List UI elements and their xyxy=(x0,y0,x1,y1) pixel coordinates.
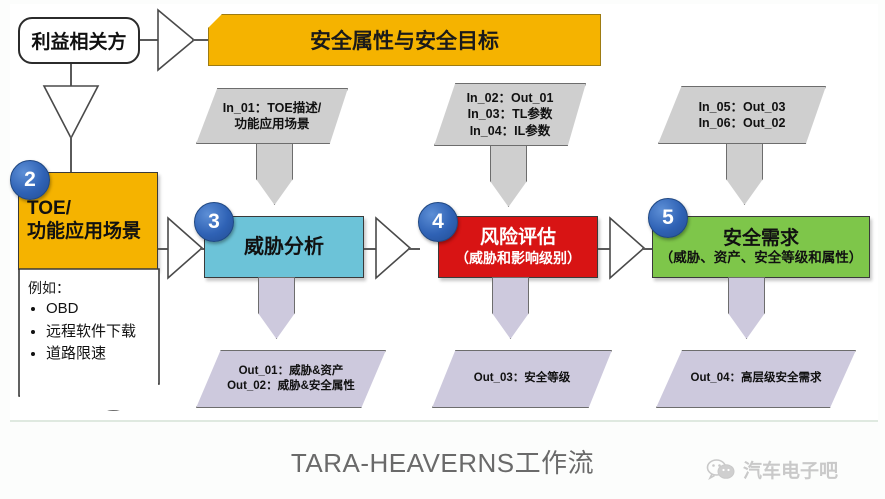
connector-line xyxy=(70,64,72,86)
note-heading: 例如： xyxy=(28,278,152,298)
connector-line xyxy=(408,248,420,250)
step-subtitle: （威胁、资产、安全等级和属性） xyxy=(660,250,863,266)
step-title: 风险评估 xyxy=(480,227,556,250)
security-goals-banner: 安全属性与安全目标 xyxy=(208,14,601,66)
input-block-2: In_02：Out_01 In_03：TL参数 In_04：IL参数 xyxy=(434,83,586,146)
watermark-text: 汽车电子吧 xyxy=(743,456,838,483)
input-line: 功能应用场景 xyxy=(234,116,309,133)
output-block-1: Out_01：威胁&资产 Out_02：威胁&安全属性 xyxy=(196,350,386,408)
arrow-connector-right-icon xyxy=(608,216,646,280)
diagram-canvas: 利益相关方 安全属性与安全目标 In_01：TOE描述/ 功能应用场景 In_0… xyxy=(0,0,885,499)
step-number: 5 xyxy=(662,206,674,230)
step-badge-4: 4 xyxy=(418,202,458,242)
input-block-1: In_01：TOE描述/ 功能应用场景 xyxy=(196,88,348,144)
output-line: Out_04：高层级安全需求 xyxy=(691,371,822,386)
connector-line xyxy=(70,136,72,172)
input-line: In_01：TOE描述/ xyxy=(223,100,321,117)
output-block-3: Out_04：高层级安全需求 xyxy=(656,350,856,408)
note-list: OBD 远程软件下载 道路限速 xyxy=(28,298,152,366)
connector-line xyxy=(192,39,210,41)
toe-examples-note: 例如： OBD 远程软件下载 道路限速 xyxy=(20,270,158,410)
step-subtitle: 功能应用场景 xyxy=(27,221,141,244)
wechat-icon xyxy=(706,458,736,482)
input-line: In_06：Out_02 xyxy=(699,115,786,132)
arrow-connector-right-icon xyxy=(156,8,196,72)
caption-text: TARA-HEAVERNS工作流 xyxy=(291,448,594,478)
step-badge-5: 5 xyxy=(648,198,688,238)
stakeholder-label: 利益相关方 xyxy=(31,27,126,54)
step-title: 安全需求 xyxy=(723,228,799,251)
output-block-2: Out_03：安全等级 xyxy=(432,350,612,408)
watermark: 汽车电子吧 xyxy=(706,456,838,483)
arrow-connector-right-icon xyxy=(374,216,412,280)
input-line: In_02：Out_01 xyxy=(467,90,554,107)
banner-label: 安全属性与安全目标 xyxy=(310,25,499,55)
step-badge-2: 2 xyxy=(10,160,50,200)
step-subtitle: （威胁和影响级别） xyxy=(455,250,581,267)
arrow-connector-down-icon xyxy=(42,84,100,140)
output-line: Out_03：安全等级 xyxy=(474,371,571,386)
step-title: 威胁分析 xyxy=(244,235,324,259)
stakeholder-box: 利益相关方 xyxy=(18,17,140,64)
note-item: 道路限速 xyxy=(46,343,152,366)
step-number: 4 xyxy=(432,210,444,234)
step-number: 3 xyxy=(208,210,220,234)
step-title: TOE/ xyxy=(27,198,71,221)
output-line: Out_02：威胁&安全属性 xyxy=(227,379,355,394)
note-item: OBD xyxy=(46,298,152,321)
step-badge-3: 3 xyxy=(194,202,234,242)
input-block-3: In_05：Out_03 In_06：Out_02 xyxy=(658,86,826,144)
output-line: Out_01：威胁&资产 xyxy=(239,364,344,379)
step-number: 2 xyxy=(24,168,36,192)
input-line: In_04：IL参数 xyxy=(470,123,551,140)
input-line: In_03：TL参数 xyxy=(468,106,553,123)
step-box-risk-assessment[interactable]: 风险评估 （威胁和影响级别） xyxy=(438,216,598,278)
input-line: In_05：Out_03 xyxy=(699,99,786,116)
note-item: 远程软件下载 xyxy=(46,321,152,344)
